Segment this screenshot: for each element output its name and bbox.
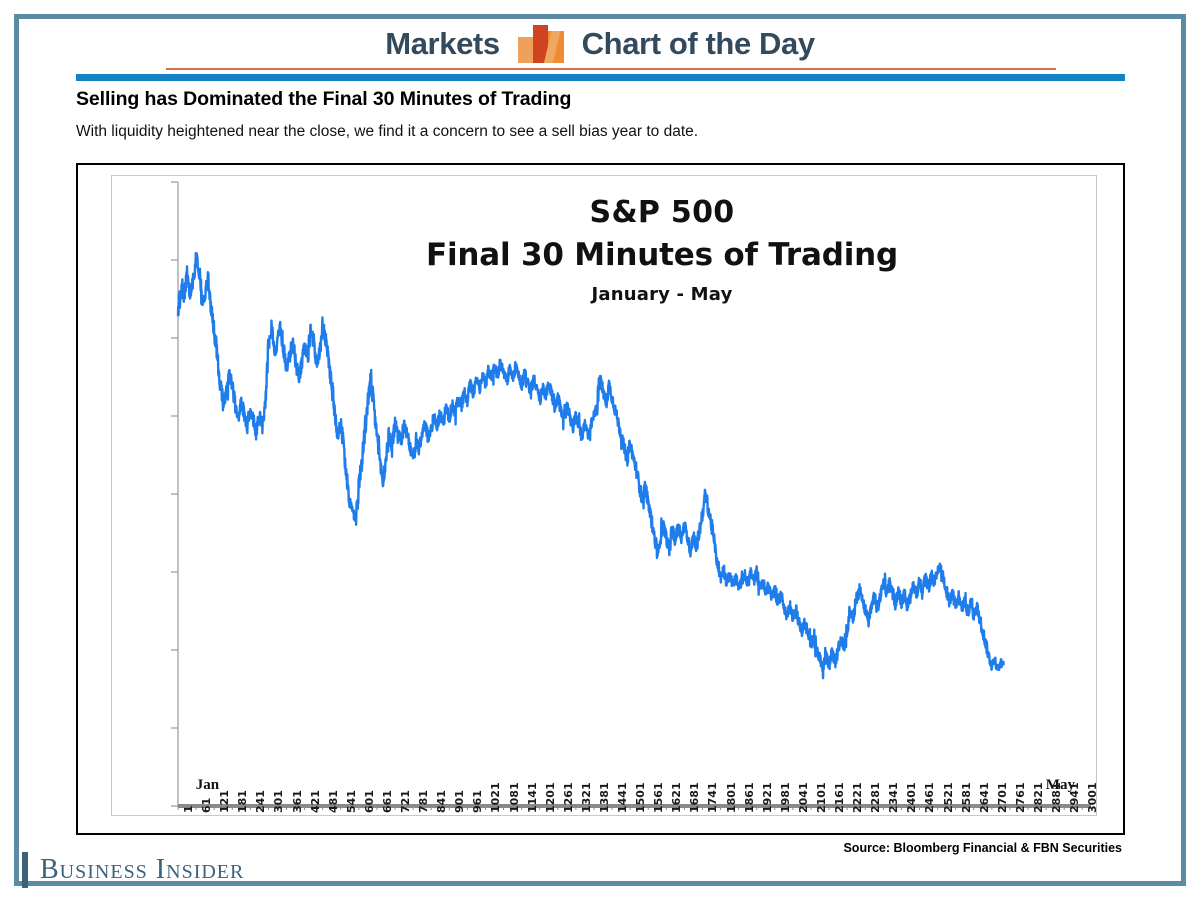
markets-bar-logo-icon [518,25,564,63]
business-insider-logo: Business Insider [22,852,244,888]
bi-logo-text: Business Insider [40,856,244,884]
x-axis-tick-label: 1381 [598,782,611,813]
x-axis-tick-label: 2401 [905,782,918,813]
chart-line-sp500 [178,253,1004,678]
bi-logo-bar [22,852,28,888]
x-axis-tick-label: 1201 [544,782,557,813]
x-axis-tick-label: 1741 [706,782,719,813]
x-axis-tick-label: 2821 [1032,782,1045,813]
x-axis-tick-label: 481 [327,790,340,813]
x-axis-tick-label: 2221 [851,782,864,813]
header-banner: Markets Chart of the Day [70,18,1130,70]
header-markets-label: Markets [385,26,499,62]
header-rule-orange [166,68,1056,70]
x-axis-tick-label: 1261 [562,782,575,813]
x-axis-tick-label: 841 [435,790,448,813]
source-note: Source: Bloomberg Financial & FBN Securi… [843,841,1122,855]
y-axis-tick-labels: 101.0100.5100.099.599.098.598.097.597.0 [112,176,178,817]
x-axis-tick-label: 1981 [779,782,792,813]
x-axis-tick-label: 1501 [634,782,647,813]
x-axis-tick-label: 241 [254,790,267,813]
x-axis-tick-label: 2881 [1050,782,1063,813]
x-axis-tick-label: 601 [363,790,376,813]
x-axis-tick-label: 181 [236,790,249,813]
chart-series-group [178,253,1004,678]
plot-frame: S&P 500 Final 30 Minutes of Trading Janu… [111,175,1097,816]
x-axis-tick-label: 361 [291,790,304,813]
page-subtitle: With liquidity heightened near the close… [76,123,698,141]
chart-axes [171,182,1091,810]
slide-frame-right [1181,14,1186,886]
x-axis-tick-label: 1321 [580,782,593,813]
x-axis-tick-label: 901 [453,790,466,813]
x-axis-tick-label: 2581 [960,782,973,813]
slide-frame-left [14,14,19,886]
x-axis-tick-label: 1621 [670,782,683,813]
x-axis-tick-label: 1 [182,805,195,813]
x-axis-tick-label: 2341 [887,782,900,813]
chart-container: S&P 500 Final 30 Minutes of Trading Janu… [76,163,1125,835]
x-axis-tick-label: 2641 [978,782,991,813]
x-axis-tick-label: 2281 [869,782,882,813]
x-axis-tick-label: 3001 [1086,782,1099,813]
header-rule-blue [76,74,1125,81]
x-axis-tick-label: 2521 [942,782,955,813]
x-axis-tick-label: 1561 [652,782,665,813]
x-axis-tick-label: 421 [309,790,322,813]
x-axis-tick-label: 301 [272,790,285,813]
x-axis-tick-label: 1681 [688,782,701,813]
x-axis-tick-label: 721 [399,790,412,813]
x-axis-tick-label: 961 [471,790,484,813]
x-axis-tick-label: 1801 [725,782,738,813]
x-axis-tick-label: 541 [345,790,358,813]
x-axis-tick-label: 2461 [923,782,936,813]
x-axis-tick-label: 781 [417,790,430,813]
x-axis-tick-label: 1441 [616,782,629,813]
x-axis-tick-label: 2701 [996,782,1009,813]
x-axis-tick-label: 1081 [508,782,521,813]
x-axis-tick-label: 2041 [797,782,810,813]
x-axis-tick-label: 2761 [1014,782,1027,813]
logo-bar-left [518,37,533,63]
x-axis-tick-label: 61 [200,798,213,813]
x-axis-tick-label: 2101 [815,782,828,813]
month-label-jan: Jan [196,777,219,794]
x-axis-tick-label: 661 [381,790,394,813]
slide-canvas: Markets Chart of the Day Selling has Dom… [0,0,1200,900]
x-axis-tick-label: 1141 [526,782,539,813]
header-chart-of-the-day-label: Chart of the Day [582,26,815,62]
x-axis-tick-label: 1921 [761,782,774,813]
chart-plot-svg [112,176,1098,817]
x-axis-tick-label: 121 [218,790,231,813]
x-axis-tick-label: 2161 [833,782,846,813]
page-title: Selling has Dominated the Final 30 Minut… [76,88,571,111]
x-axis-tick-label: 1021 [489,782,502,813]
x-axis-tick-label: 1861 [743,782,756,813]
x-axis-tick-label: 2941 [1068,782,1081,813]
